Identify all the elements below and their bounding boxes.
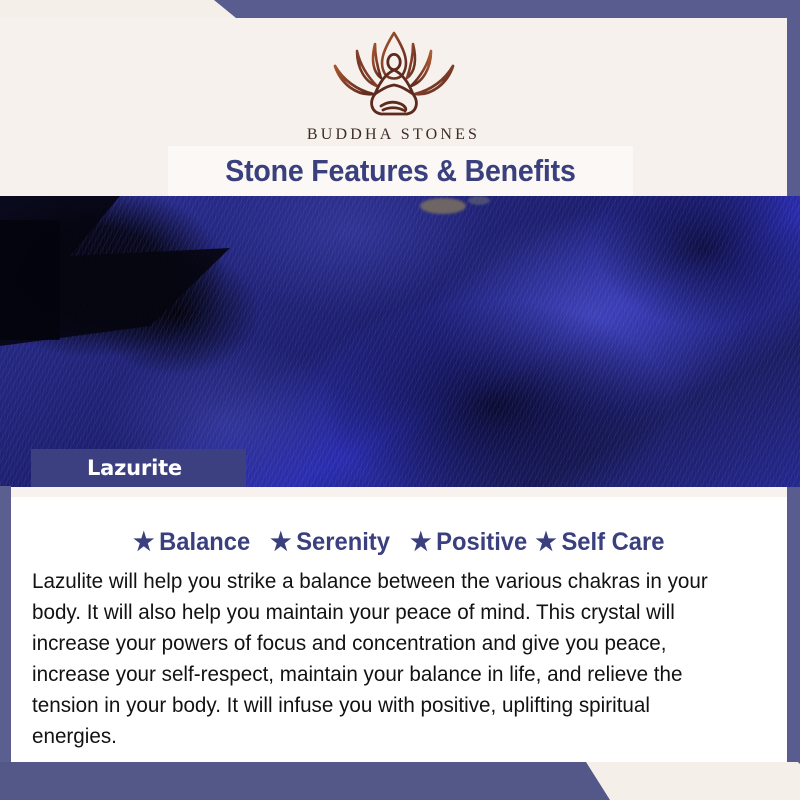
stone-photo-mineral-fleck <box>420 198 466 214</box>
benefit-keywords: ★ Balance ★ Serenity ★ Positive ★ Self C… <box>11 528 787 557</box>
poster-root: BUDDHA STONES Stone Features & Benefits … <box>0 0 800 800</box>
star-icon: ★ <box>410 530 431 555</box>
stone-name-tag: Lazurite <box>31 449 246 487</box>
keyword-label: Positive <box>436 528 527 557</box>
keyword-self-care: ★ Self Care <box>536 528 665 557</box>
star-icon: ★ <box>133 530 154 555</box>
keyword-label: Self Care <box>562 528 665 557</box>
keyword-label: Balance <box>159 528 250 557</box>
stone-photo-striations <box>0 196 800 487</box>
top-accent-band <box>0 0 800 18</box>
stone-description: Lazulite will help you strike a balance … <box>32 566 719 752</box>
stone-photo <box>0 196 800 487</box>
stone-photo-shadow-edge <box>0 220 60 340</box>
keyword-label: Serenity <box>296 528 390 557</box>
page-title: Stone Features & Benefits <box>225 153 575 189</box>
bottom-accent-band <box>0 762 800 800</box>
stone-name: Lazurite <box>87 456 182 480</box>
left-accent-rail <box>0 486 11 762</box>
keyword-serenity: ★ Serenity <box>270 528 390 557</box>
content-card-topline <box>11 487 787 497</box>
page-title-plaque: Stone Features & Benefits <box>168 146 633 196</box>
brand-logo: BUDDHA STONES <box>0 24 787 144</box>
star-icon: ★ <box>270 530 291 555</box>
star-icon: ★ <box>536 530 557 555</box>
stone-photo-mineral-fleck-secondary <box>468 196 490 205</box>
lotus-meditation-figure-icon <box>0 24 787 124</box>
keyword-balance: ★ Balance <box>133 528 250 557</box>
brand-name: BUDDHA STONES <box>0 126 787 144</box>
keyword-positive: ★ Positive <box>410 528 527 557</box>
